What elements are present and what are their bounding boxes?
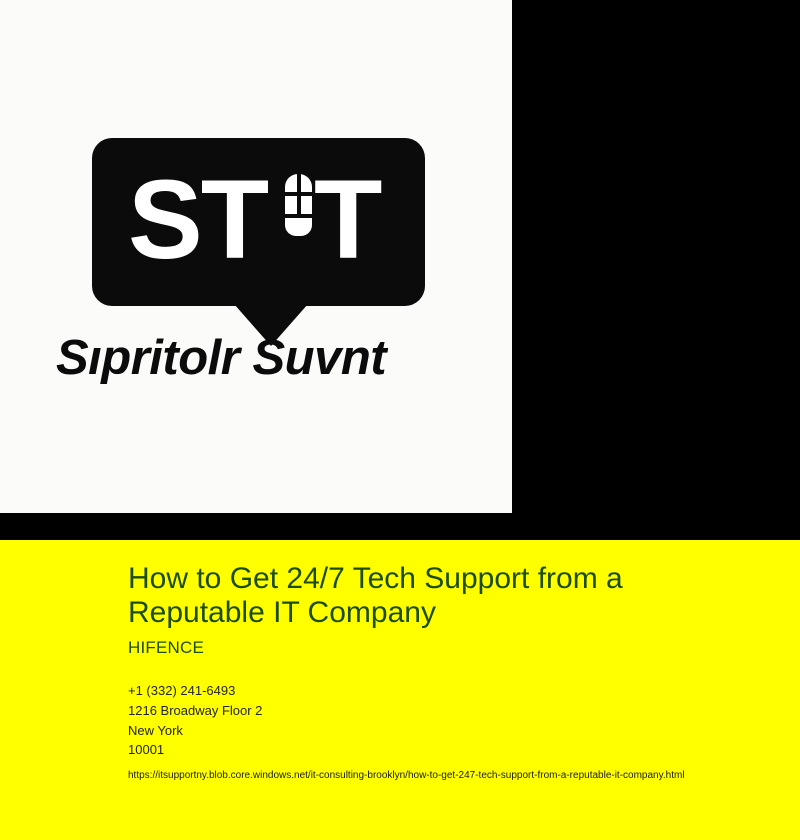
page-title: How to Get 24/7 Tech Support from a Repu… bbox=[128, 562, 688, 629]
brand-name: HIFENCE bbox=[128, 638, 780, 658]
logo-tagline: Sıpritolr Suvnt bbox=[56, 333, 476, 384]
mouse-icon-divider-upper bbox=[285, 192, 312, 196]
article-card: How to Get 24/7 Tech Support from a Repu… bbox=[0, 540, 800, 840]
contact-block: +1 (332) 241-6493 1216 Broadway Floor 2 … bbox=[128, 681, 780, 760]
computer-mouse-icon bbox=[285, 174, 312, 236]
logo-wordmark-left: ST bbox=[128, 164, 267, 276]
page-root: ST T Sıpritolr Suvnt How to Get 24/7 Tec… bbox=[0, 0, 800, 840]
article-content: How to Get 24/7 Tech Support from a Repu… bbox=[128, 562, 780, 781]
contact-phone: +1 (332) 241-6493 bbox=[128, 681, 780, 701]
logo-wordmark: ST T bbox=[92, 138, 425, 306]
logo-panel: ST T Sıpritolr Suvnt bbox=[0, 0, 512, 513]
logo-wordmark-right: T bbox=[314, 164, 380, 276]
contact-city: New York bbox=[128, 721, 780, 741]
article-url[interactable]: https://itsupportny.blob.core.windows.ne… bbox=[128, 770, 780, 781]
contact-postal-code: 10001 bbox=[128, 740, 780, 760]
company-logo: ST T bbox=[92, 138, 425, 306]
contact-street: 1216 Broadway Floor 2 bbox=[128, 701, 780, 721]
mouse-icon-divider-lower bbox=[285, 214, 312, 218]
